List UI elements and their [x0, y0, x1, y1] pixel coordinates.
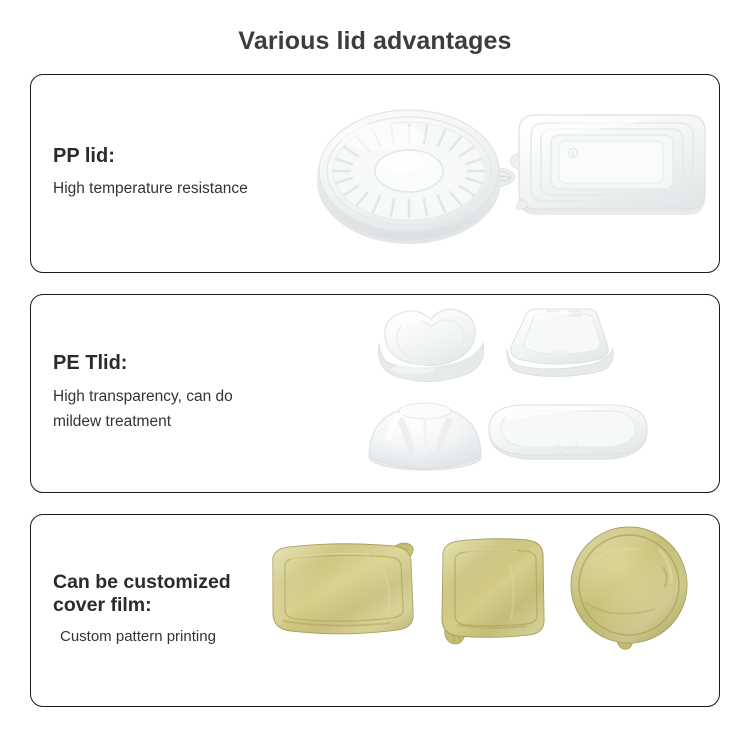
card-film-heading: Can be customized cover film:	[53, 571, 323, 617]
card-pp-lid: PP lid: High temperature resistance	[30, 74, 720, 273]
card-film-text: Can be customized cover film: Custom pat…	[53, 515, 323, 706]
card-pe-description-line1: High transparency, can do	[53, 384, 323, 409]
card-pp-text: PP lid: High temperature resistance	[53, 75, 323, 272]
card-film-heading-line1: Can be customized	[53, 571, 323, 594]
card-pp-description: High temperature resistance	[53, 176, 323, 201]
oval-pe-lid-image	[479, 395, 657, 471]
square-gold-foil-image	[431, 531, 556, 656]
round-gold-foil-image	[563, 523, 698, 658]
card-pe-heading: PE Tlid:	[53, 352, 323, 376]
card-film-heading-line2: cover film:	[53, 594, 323, 617]
lid-advantage-cards: PP lid: High temperature resistance	[30, 74, 720, 707]
page-title: Various lid advantages	[0, 17, 750, 56]
heart-pe-lid-image	[361, 299, 501, 399]
card-cover-film: Can be customized cover film: Custom pat…	[30, 514, 720, 707]
dome-pe-lid-image	[361, 391, 489, 475]
card-pe-lid: PE Tlid: High transparency, can do milde…	[30, 294, 720, 493]
card-film-description: Custom pattern printing	[53, 625, 323, 649]
round-pp-lid-image	[313, 95, 518, 255]
rectangular-pp-lid-image: 5	[493, 101, 713, 241]
card-pe-text: PE Tlid: High transparency, can do milde…	[53, 295, 323, 492]
card-pp-heading: PP lid:	[53, 145, 323, 169]
square-pe-lid-image	[491, 299, 621, 395]
svg-text:5: 5	[571, 152, 575, 158]
card-pe-description-line2: mildew treatment	[53, 409, 323, 434]
